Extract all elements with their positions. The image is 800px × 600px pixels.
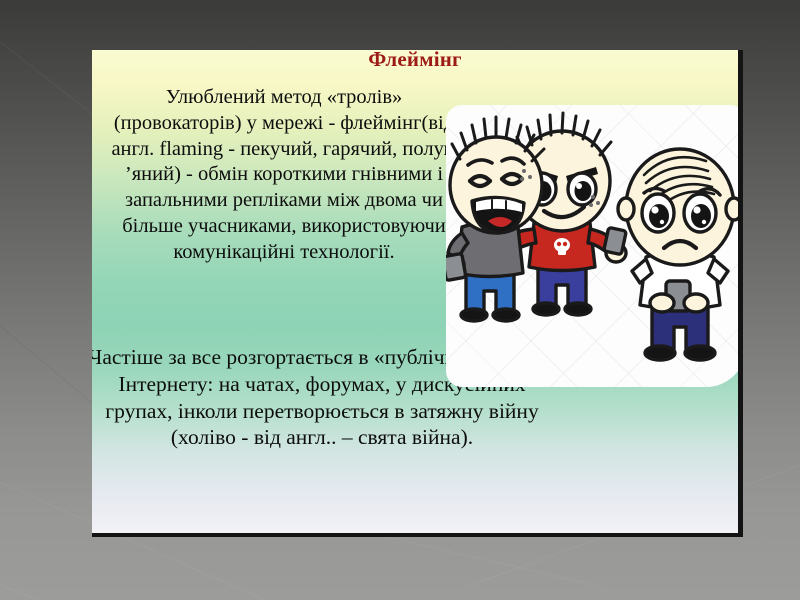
sad-boy [618, 149, 738, 360]
cartoon-bullying-scene: .ol { stroke:#1a1a1a; stroke-width:3.4; … [446, 105, 738, 387]
flaming-illustration: .ol { stroke:#1a1a1a; stroke-width:3.4; … [446, 105, 738, 387]
slide-title: Флеймінг [92, 50, 738, 72]
slide-paragraph-definition: Улюблений метод «тролів» (провокаторів) … [100, 85, 468, 266]
slide-card: Флеймінг Улюблений метод «тролів» (прово… [92, 50, 738, 533]
backdrop-facet-line [0, 560, 515, 600]
presentation-backdrop: Флеймінг Улюблений метод «тролів» (прово… [0, 0, 800, 600]
